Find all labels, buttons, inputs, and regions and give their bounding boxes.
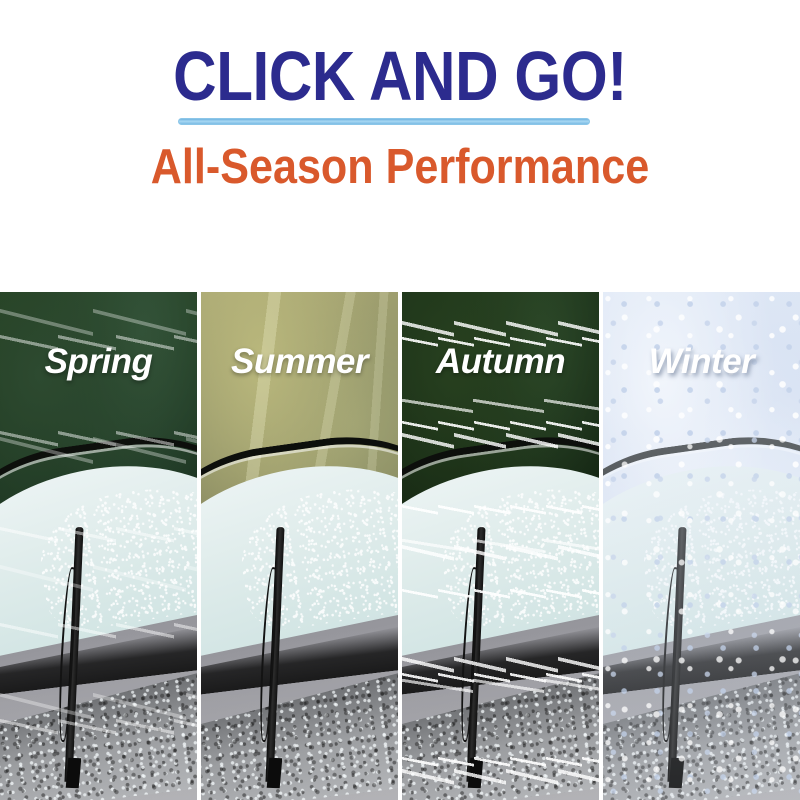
wiper-blade-assembly — [257, 527, 291, 782]
season-panel-autumn[interactable]: Autumn — [402, 292, 599, 800]
wiper-blade-assembly — [458, 527, 492, 782]
page-title: CLICK AND GO! — [56, 40, 744, 112]
season-label-autumn: Autumn — [402, 342, 599, 382]
season-label-winter: Winter — [603, 342, 800, 382]
season-panel-summer[interactable]: Summer — [201, 292, 398, 800]
season-label-summer: Summer — [201, 342, 398, 382]
wiper-blade-assembly — [56, 527, 90, 782]
season-panel-spring[interactable]: Spring — [0, 292, 197, 800]
title-underline-rule — [178, 118, 590, 125]
promo-banner: CLICK AND GO! All-Season Performance Spr… — [0, 0, 800, 800]
page-subtitle: All-Season Performance — [48, 138, 752, 196]
season-label-spring: Spring — [0, 342, 197, 382]
season-panel-strip: Spring Summer — [0, 292, 800, 800]
wiper-blade-assembly — [659, 527, 693, 782]
header: CLICK AND GO! All-Season Performance — [0, 0, 800, 292]
wiper-pivot-foot — [468, 758, 484, 788]
wiper-pivot-foot — [669, 758, 685, 788]
season-panel-winter[interactable]: Winter — [603, 292, 800, 800]
wiper-pivot-foot — [66, 758, 82, 788]
wiper-pivot-foot — [267, 758, 283, 788]
